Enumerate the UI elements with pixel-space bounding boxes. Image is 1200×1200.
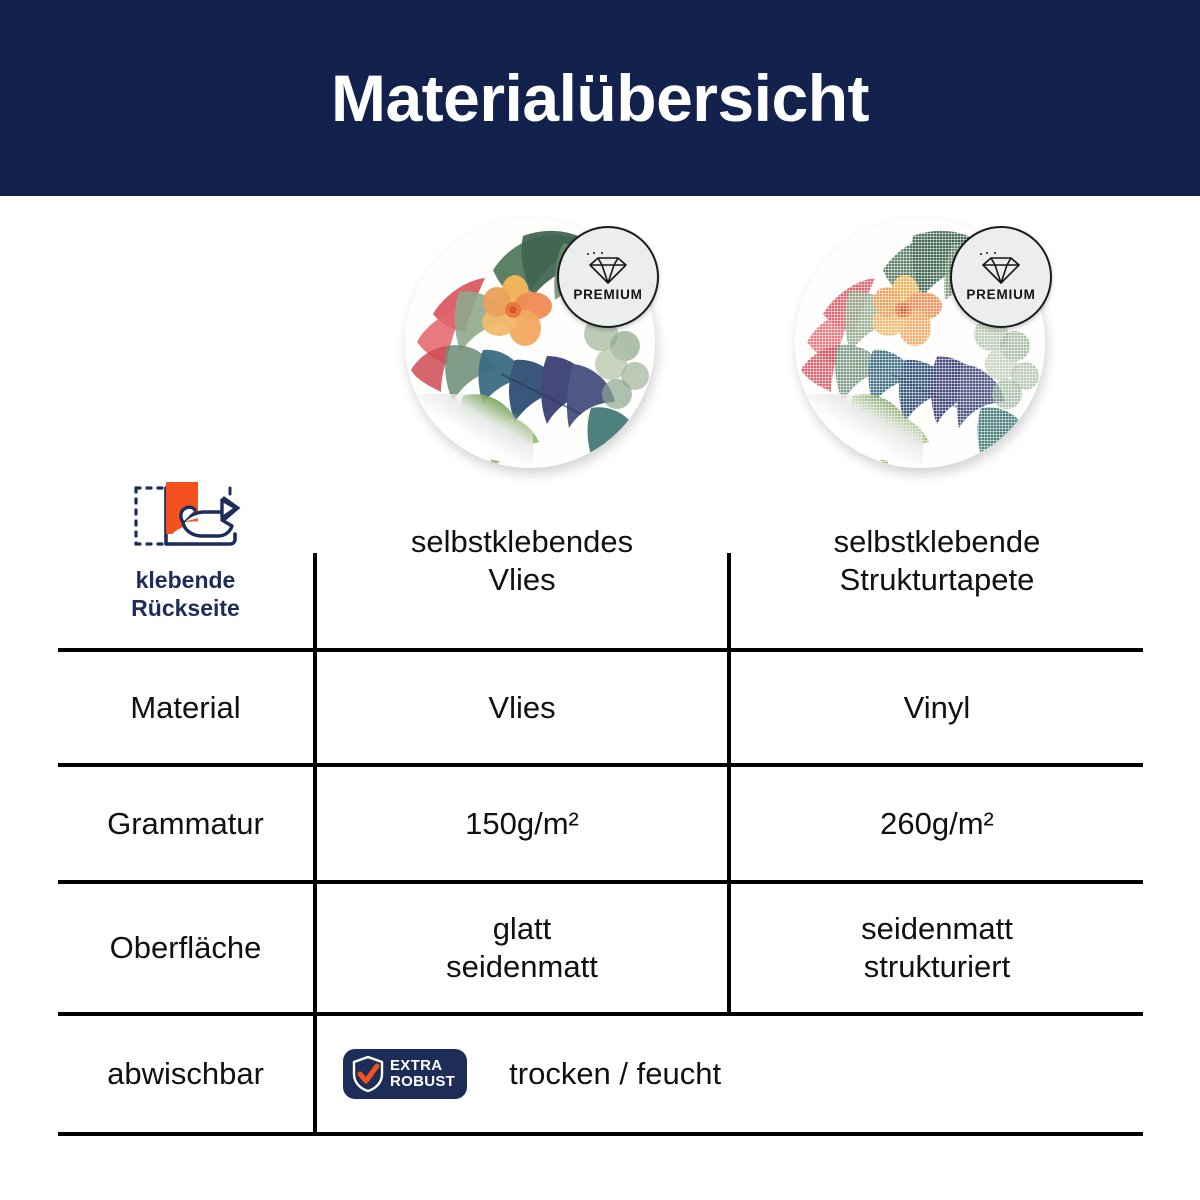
premium-badge-label: PREMIUM bbox=[966, 288, 1035, 302]
premium-badge: PREMIUM bbox=[557, 226, 659, 328]
material-comparison-table: klebende Rückseite selbstklebendes Vlies… bbox=[58, 470, 1143, 1135]
extra-robust-line2: ROBUST bbox=[390, 1074, 455, 1090]
cell-material-strukturtapete: Vinyl bbox=[731, 652, 1143, 763]
cell-oberflaeche-strukturtapete-line2: strukturiert bbox=[864, 949, 1010, 984]
table-hline-5 bbox=[58, 1132, 1143, 1136]
row-label-material: Material bbox=[58, 652, 313, 763]
page-title: Materialübersicht bbox=[331, 65, 869, 131]
sample-images-row: PREMIUM bbox=[0, 218, 1200, 468]
page-header: Materialübersicht bbox=[0, 0, 1200, 196]
cell-oberflaeche-strukturtapete: seidenmatt strukturiert bbox=[731, 884, 1143, 1012]
premium-badge-label: PREMIUM bbox=[573, 288, 642, 302]
column-header-strukturtapete-line1: selbstklebende bbox=[834, 524, 1041, 559]
adhesive-backing-label: klebende Rückseite bbox=[131, 566, 240, 622]
extra-robust-badge-text: EXTRA ROBUST bbox=[390, 1058, 455, 1090]
adhesive-backing-label-line1: klebende bbox=[136, 567, 236, 593]
cell-grammatur-strukturtapete: 260g/m² bbox=[731, 767, 1143, 880]
premium-badge: PREMIUM bbox=[950, 226, 1052, 328]
diamond-icon bbox=[978, 252, 1024, 286]
cell-grammatur-vlies: 150g/m² bbox=[317, 767, 727, 880]
sample-image-vlies[interactable]: PREMIUM bbox=[405, 218, 655, 468]
row-label-oberflaeche: Oberfläche bbox=[58, 884, 313, 1012]
cell-material-vlies: Vlies bbox=[317, 652, 727, 763]
cell-oberflaeche-vlies-line2: seidenmatt bbox=[446, 949, 598, 984]
cell-abwischbar-value: EXTRA ROBUST trocken / feucht bbox=[343, 1016, 721, 1132]
cell-oberflaeche-vlies: glatt seidenmatt bbox=[317, 884, 727, 1012]
column-header-strukturtapete: selbstklebende Strukturtapete bbox=[731, 474, 1143, 648]
extra-robust-badge: EXTRA ROBUST bbox=[343, 1049, 467, 1099]
column-header-vlies-line1: selbstklebendes bbox=[411, 524, 633, 559]
column-header-vlies: selbstklebendes Vlies bbox=[317, 474, 727, 648]
column-header-vlies-line2: Vlies bbox=[488, 562, 555, 597]
extra-robust-line1: EXTRA bbox=[390, 1058, 455, 1074]
adhesive-backing-cell: klebende Rückseite bbox=[58, 470, 313, 648]
row-label-grammatur: Grammatur bbox=[58, 767, 313, 880]
row-label-abwischbar: abwischbar bbox=[58, 1016, 313, 1132]
sample-image-strukturtapete[interactable]: PREMIUM bbox=[795, 218, 1045, 468]
cell-oberflaeche-strukturtapete-line1: seidenmatt bbox=[861, 911, 1013, 946]
column-header-strukturtapete-line2: Strukturtapete bbox=[840, 562, 1035, 597]
diamond-icon bbox=[585, 252, 631, 286]
peel-adhesive-backing-icon bbox=[126, 474, 246, 560]
cell-oberflaeche-vlies-line1: glatt bbox=[493, 911, 552, 946]
adhesive-backing-label-line2: Rückseite bbox=[131, 595, 240, 621]
abwischbar-value-text: trocken / feucht bbox=[509, 1056, 721, 1092]
shield-check-icon bbox=[351, 1055, 385, 1093]
